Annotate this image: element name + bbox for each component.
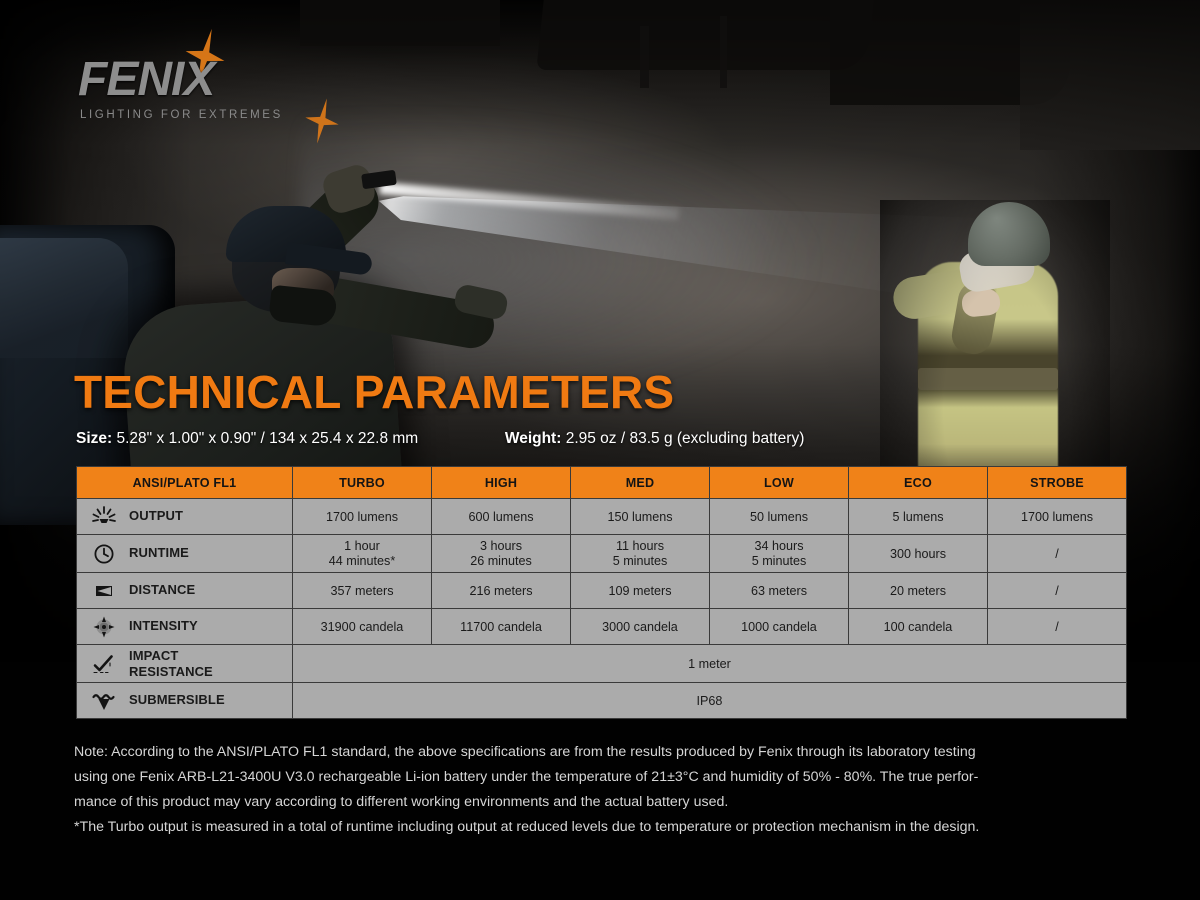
- cell-output-med: 150 lumens: [571, 499, 710, 535]
- cell-intensity-turbo: 31900 candela: [293, 609, 432, 645]
- cell-intensity-eco: 100 candela: [849, 609, 988, 645]
- weight-label: Weight:: [505, 430, 562, 447]
- footnote-line-4: *The Turbo output is measured in a total…: [74, 815, 1132, 840]
- table-row: RUNTIME 1 hour44 minutes* 3 hours26 minu…: [77, 535, 1127, 573]
- cell-runtime-eco: 300 hours: [849, 535, 988, 573]
- machinery-silhouette: [536, 0, 873, 70]
- cell-runtime-high: 3 hours26 minutes: [432, 535, 571, 573]
- machinery-pole: [720, 16, 727, 88]
- cell-runtime-strobe: /: [988, 535, 1127, 573]
- cell-intensity-med: 3000 candela: [571, 609, 710, 645]
- row-label-runtime: RUNTIME: [77, 535, 293, 573]
- footnote-line-3: mance of this product may vary according…: [74, 790, 1132, 815]
- cell-distance-med: 109 meters: [571, 573, 710, 609]
- cell-distance-turbo: 357 meters: [293, 573, 432, 609]
- row-label-submersible: SUBMERSIBLE: [77, 683, 293, 719]
- cell-distance-eco: 20 meters: [849, 573, 988, 609]
- footnote-line-1: Note: According to the ANSI/PLATO FL1 st…: [74, 740, 1132, 765]
- column-header-turbo: TURBO: [293, 467, 432, 499]
- column-header-med: MED: [571, 467, 710, 499]
- cell-distance-low: 63 meters: [710, 573, 849, 609]
- sun-burst-icon: [91, 505, 117, 529]
- weight-value: 2.95 oz / 83.5 g (excluding battery): [566, 430, 805, 447]
- footnote-block: Note: According to the ANSI/PLATO FL1 st…: [74, 740, 1132, 840]
- page-title: TECHNICAL PARAMETERS: [74, 369, 674, 415]
- cell-output-strobe: 1700 lumens: [988, 499, 1127, 535]
- column-header-high: HIGH: [432, 467, 571, 499]
- machinery-silhouette: [300, 0, 500, 46]
- cell-distance-strobe: /: [988, 573, 1127, 609]
- row-label-text: SUBMERSIBLE: [129, 693, 225, 707]
- row-label-impact-resistance: IMPACTRESISTANCE: [77, 645, 293, 683]
- row-label-text: IMPACTRESISTANCE: [129, 648, 213, 679]
- cell-runtime-med: 11 hours5 minutes: [571, 535, 710, 573]
- table-row: SUBMERSIBLE IP68: [77, 683, 1127, 719]
- intensity-target-icon: [91, 615, 117, 639]
- cell-intensity-low: 1000 candela: [710, 609, 849, 645]
- cell-output-high: 600 lumens: [432, 499, 571, 535]
- row-label-text: INTENSITY: [129, 619, 198, 633]
- cell-output-turbo: 1700 lumens: [293, 499, 432, 535]
- footnote-line-2: using one Fenix ARB-L21-3400U V3.0 recha…: [74, 765, 1132, 790]
- table-row: DISTANCE 357 meters 216 meters 109 meter…: [77, 573, 1127, 609]
- cell-distance-high: 216 meters: [432, 573, 571, 609]
- cell-runtime-turbo: 1 hour44 minutes*: [293, 535, 432, 573]
- row-label-intensity: INTENSITY: [77, 609, 293, 645]
- row-label-text: OUTPUT: [129, 509, 183, 523]
- impact-check-icon: [91, 652, 117, 676]
- machinery-pole: [640, 26, 649, 88]
- column-header-mode: ANSI/PLATO FL1: [77, 467, 293, 499]
- column-header-low: LOW: [710, 467, 849, 499]
- cell-runtime-low: 34 hours5 minutes: [710, 535, 849, 573]
- cell-impact-resistance-value: 1 meter: [293, 645, 1127, 683]
- row-label-distance: DISTANCE: [77, 573, 293, 609]
- cell-output-low: 50 lumens: [710, 499, 849, 535]
- fenix-logo: FENIX LIGHTING FOR EXTREMES: [78, 56, 283, 121]
- table-row: OUTPUT 1700 lumens 600 lumens 150 lumens…: [77, 499, 1127, 535]
- cell-intensity-strobe: /: [988, 609, 1127, 645]
- cell-submersible-value: IP68: [293, 683, 1127, 719]
- size-weight-line: Size: 5.28" x 1.00" x 0.90" / 134 x 25.4…: [76, 430, 804, 448]
- table-row: IMPACTRESISTANCE 1 meter: [77, 645, 1127, 683]
- table-header-row: ANSI/PLATO FL1 TURBO HIGH MED LOW ECO ST…: [77, 467, 1127, 499]
- row-label-output: OUTPUT: [77, 499, 293, 535]
- left-person-mask: [268, 285, 337, 328]
- technical-parameters-table: ANSI/PLATO FL1 TURBO HIGH MED LOW ECO ST…: [76, 466, 1127, 719]
- fenix-wordmark: FENIX: [78, 56, 283, 104]
- submersible-icon: [91, 689, 117, 713]
- column-header-strobe: STROBE: [988, 467, 1127, 499]
- technical-parameters-table-wrapper: ANSI/PLATO FL1 TURBO HIGH MED LOW ECO ST…: [76, 466, 1126, 719]
- fenix-tagline: LIGHTING FOR EXTREMES: [80, 109, 283, 121]
- machinery-silhouette: [1020, 0, 1200, 150]
- row-label-text: RUNTIME: [129, 546, 189, 560]
- cell-intensity-high: 11700 candela: [432, 609, 571, 645]
- size-label: Size:: [76, 430, 112, 447]
- clock-icon: [91, 542, 117, 566]
- row-label-text: DISTANCE: [129, 583, 195, 597]
- size-value: 5.28" x 1.00" x 0.90" / 134 x 25.4 x 22.…: [117, 430, 419, 447]
- column-header-eco: ECO: [849, 467, 988, 499]
- cell-output-eco: 5 lumens: [849, 499, 988, 535]
- beam-distance-icon: [91, 579, 117, 603]
- table-row: INTENSITY 31900 candela 11700 candela 30…: [77, 609, 1127, 645]
- product-spec-page: FENIX LIGHTING FOR EXTREMES TECHNICAL PA…: [0, 0, 1200, 900]
- vehicle-window: [0, 238, 128, 358]
